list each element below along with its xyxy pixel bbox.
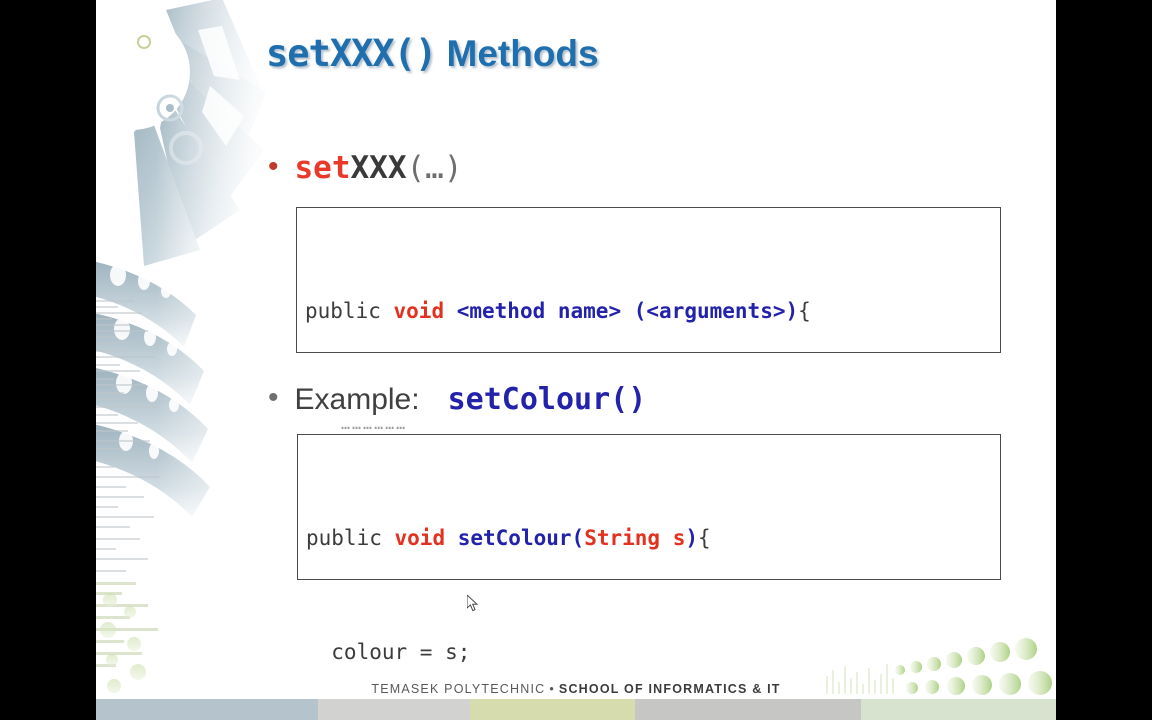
footer-institution: TEMASEK POLYTECHNIC — [371, 682, 545, 696]
code-token-void: void — [395, 526, 458, 550]
bullet-2-label: Example: — [295, 383, 420, 417]
code-token-setcolour: setColour — [458, 526, 572, 550]
code-token-public: public — [306, 526, 395, 550]
code-token-arguments: (<arguments>) — [634, 299, 798, 323]
code-token-open-brace: { — [698, 526, 711, 550]
strip-band-4 — [635, 699, 861, 720]
strip-band-5 — [861, 699, 1056, 720]
code-token-void: void — [394, 299, 457, 323]
code-block-setcolour-example: public void setColour(String s){ colour … — [297, 434, 1001, 580]
code-token-param-string-s: String s — [584, 526, 685, 550]
code-token-public: public — [305, 299, 394, 323]
bullet-1-segment-parens: (…) — [407, 150, 463, 186]
bullet-1-segment-xxx: XXX — [351, 150, 407, 186]
slide-title-sans-part: Methods — [436, 33, 598, 74]
footer-school: SCHOOL OF INFORMATICS & IT — [559, 682, 781, 696]
bullet-item-example: • Example: setColour() — [268, 382, 646, 417]
code-token-open-brace: { — [798, 299, 811, 323]
bullet-2-code: setColour() — [448, 382, 647, 417]
code-line: colour = s; — [306, 633, 1000, 671]
strip-band-2 — [318, 699, 470, 720]
bullet-item-setxxx: • setXXX(…) — [268, 150, 463, 186]
strip-band-1 — [96, 699, 318, 720]
bullet-marker-icon: • — [268, 152, 279, 182]
strip-band-3 — [470, 699, 635, 720]
screen: setXXX() Methods • setXXX(…) public void… — [0, 0, 1152, 720]
code-token-assignment: colour = s; — [306, 640, 470, 664]
decorative-fan-graphic — [96, 0, 296, 700]
code-block-generic-setter: public void <method name> (<arguments>){… — [296, 207, 1001, 353]
bottom-color-strip — [96, 699, 1056, 720]
bullet-1-segment-set: set — [295, 150, 351, 186]
footer-separator-icon: • — [549, 682, 555, 696]
code-token-close-paren: ) — [685, 526, 698, 550]
slide-footer: TEMASEK POLYTECHNIC•SCHOOL OF INFORMATIC… — [96, 682, 1056, 696]
code-line: public void setColour(String s){ — [306, 519, 1000, 557]
code-token-method-name: <method name> — [457, 299, 621, 323]
slide-title-mono-part: setXXX() — [266, 32, 436, 75]
code-token-open-paren: ( — [572, 526, 585, 550]
code-line: public void <method name> (<arguments>){ — [305, 292, 1000, 330]
bullet-marker-icon: • — [268, 383, 279, 413]
code-token-space — [621, 299, 634, 323]
presentation-slide: setXXX() Methods • setXXX(…) public void… — [96, 0, 1056, 720]
slide-title: setXXX() Methods — [266, 32, 599, 75]
